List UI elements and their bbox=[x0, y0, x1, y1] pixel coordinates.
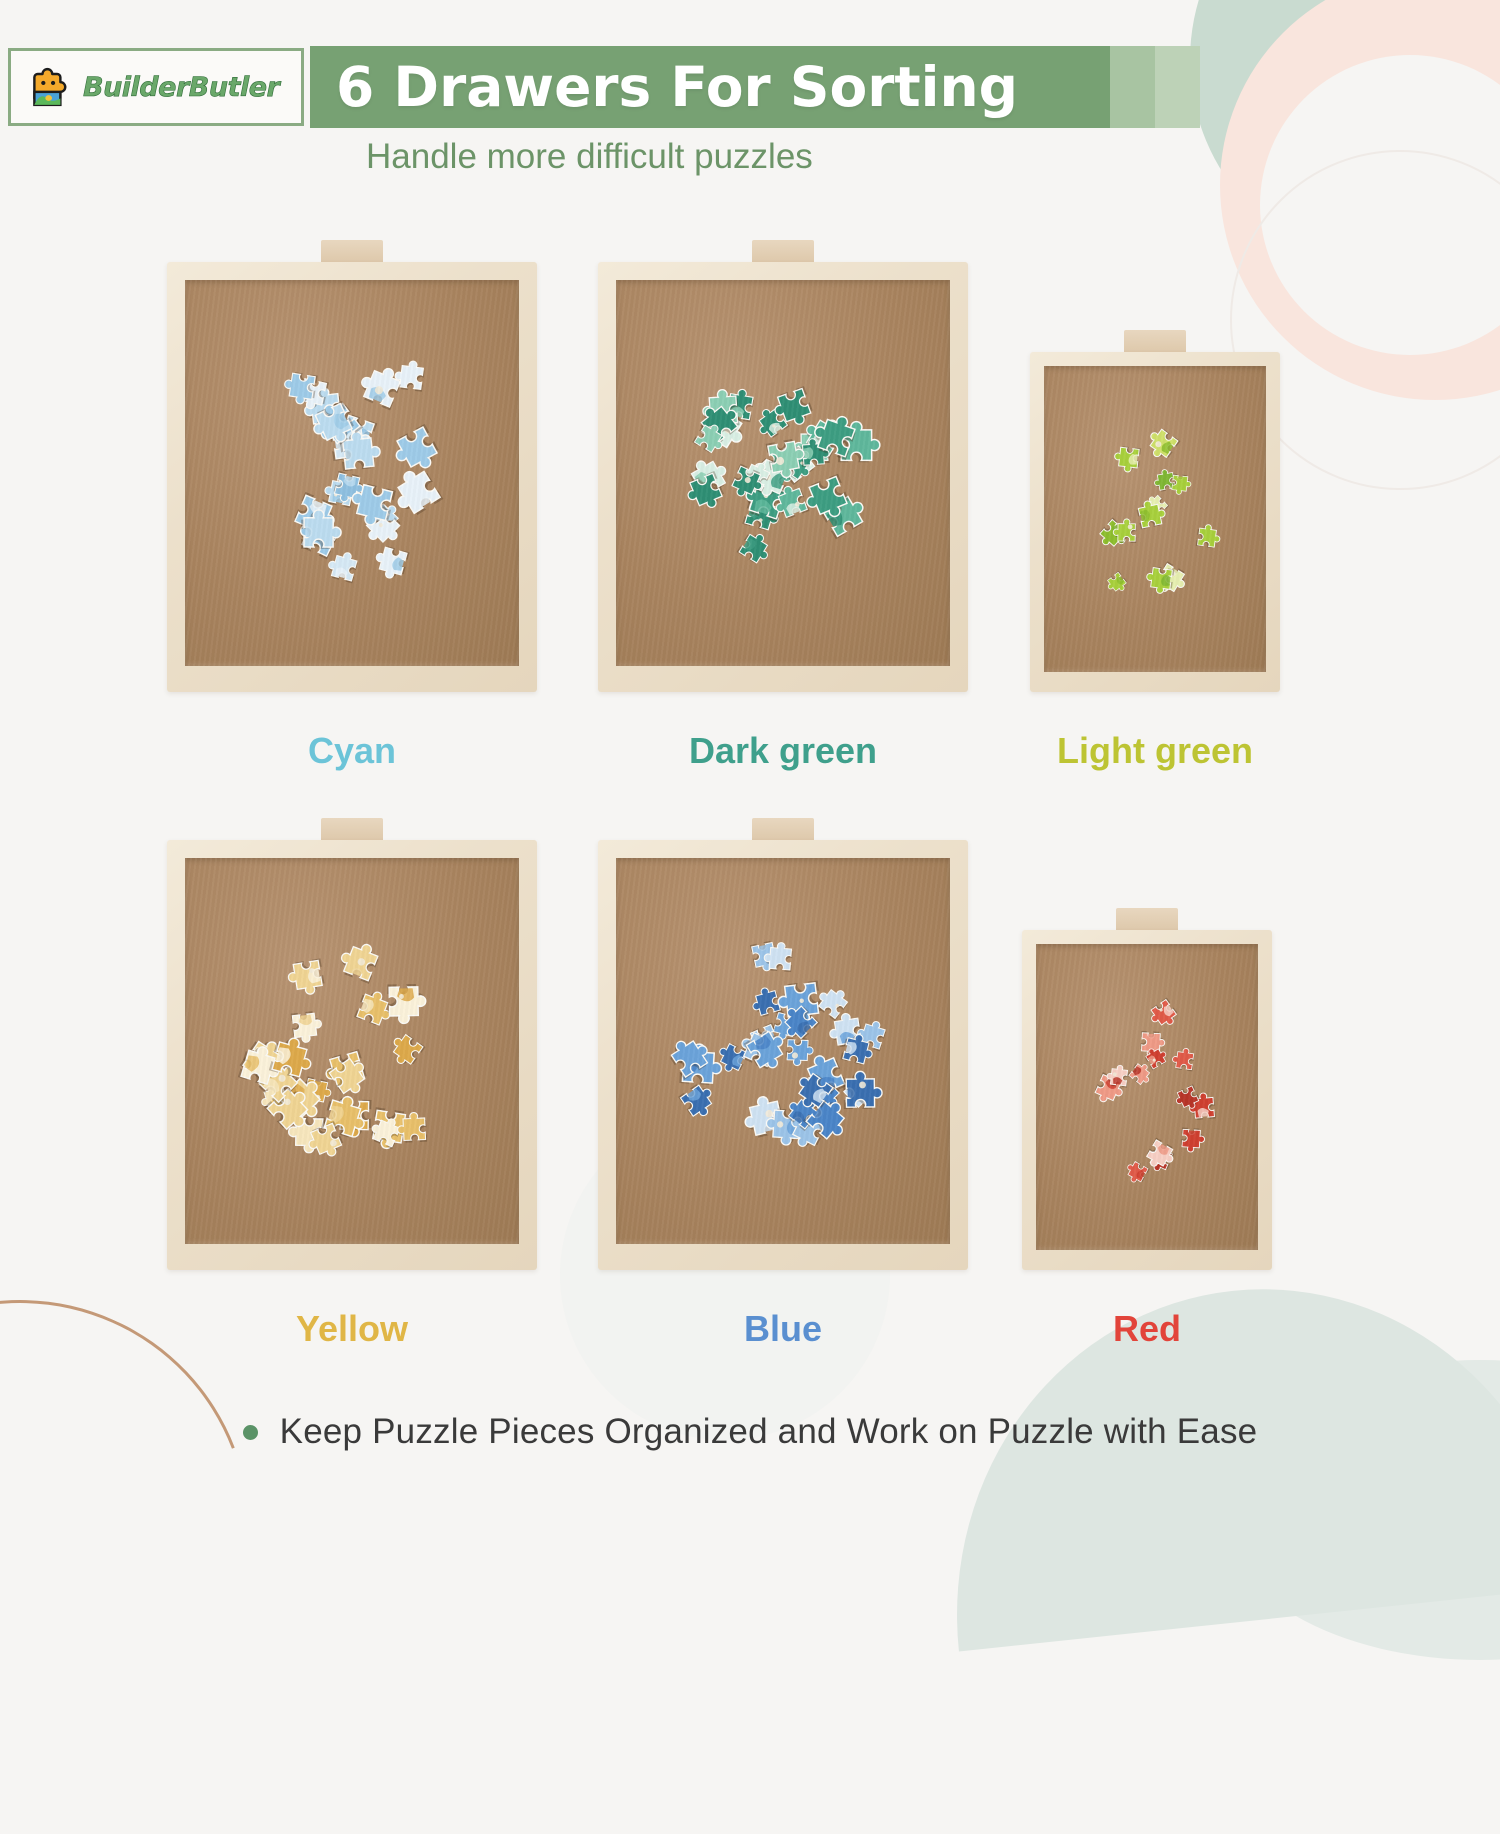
title-banner: 6 Drawers For Sorting bbox=[310, 46, 1200, 128]
tray-board-surface bbox=[185, 280, 519, 666]
tray-label-red: Red bbox=[1022, 1308, 1272, 1350]
tray-board-surface bbox=[185, 858, 519, 1244]
tray-wooden-frame bbox=[1030, 352, 1280, 692]
puzzle-pieces-cluster bbox=[1044, 366, 1266, 672]
tray-board-surface bbox=[616, 858, 950, 1244]
decorative-green-circle-bottom-right bbox=[1220, 1360, 1500, 1660]
tray-board-surface bbox=[1044, 366, 1266, 672]
puzzle-piece-logo-icon bbox=[23, 61, 75, 113]
brand-name: BuilderButler bbox=[83, 72, 279, 103]
tray-wooden-frame bbox=[167, 262, 537, 692]
banner-accent-block-mid bbox=[1110, 46, 1155, 128]
tray-label-light-green: Light green bbox=[1030, 730, 1280, 772]
tray-board-surface bbox=[616, 280, 950, 666]
puzzle-pieces-cluster bbox=[616, 280, 950, 666]
title-banner-main: 6 Drawers For Sorting bbox=[310, 46, 1110, 128]
footer-feature-text: Keep Puzzle Pieces Organized and Work on… bbox=[280, 1412, 1258, 1452]
tray-wooden-frame bbox=[598, 262, 968, 692]
tray-label-dark-green: Dark green bbox=[598, 730, 968, 772]
puzzle-pieces-cluster bbox=[1036, 944, 1258, 1250]
bullet-dot-icon bbox=[243, 1425, 258, 1440]
tray-label-yellow: Yellow bbox=[167, 1308, 537, 1350]
puzzle-pieces-cluster bbox=[185, 858, 519, 1244]
tray-label-cyan: Cyan bbox=[167, 730, 537, 772]
tray-wooden-frame bbox=[1022, 930, 1272, 1270]
banner-accent-block-light bbox=[1155, 46, 1200, 128]
page-subtitle: Handle more difficult puzzles bbox=[366, 137, 813, 177]
puzzle-pieces-cluster bbox=[616, 858, 950, 1244]
header: BuilderButler 6 Drawers For Sorting Hand… bbox=[0, 0, 1500, 200]
page-title: 6 Drawers For Sorting bbox=[336, 55, 1018, 119]
footer-bullet: Keep Puzzle Pieces Organized and Work on… bbox=[0, 1412, 1500, 1452]
tray-label-blue: Blue bbox=[598, 1308, 968, 1350]
brand-logo: BuilderButler bbox=[8, 48, 304, 126]
tray-board-surface bbox=[1036, 944, 1258, 1250]
tray-wooden-frame bbox=[598, 840, 968, 1270]
tray-wooden-frame bbox=[167, 840, 537, 1270]
puzzle-pieces-cluster bbox=[185, 280, 519, 666]
